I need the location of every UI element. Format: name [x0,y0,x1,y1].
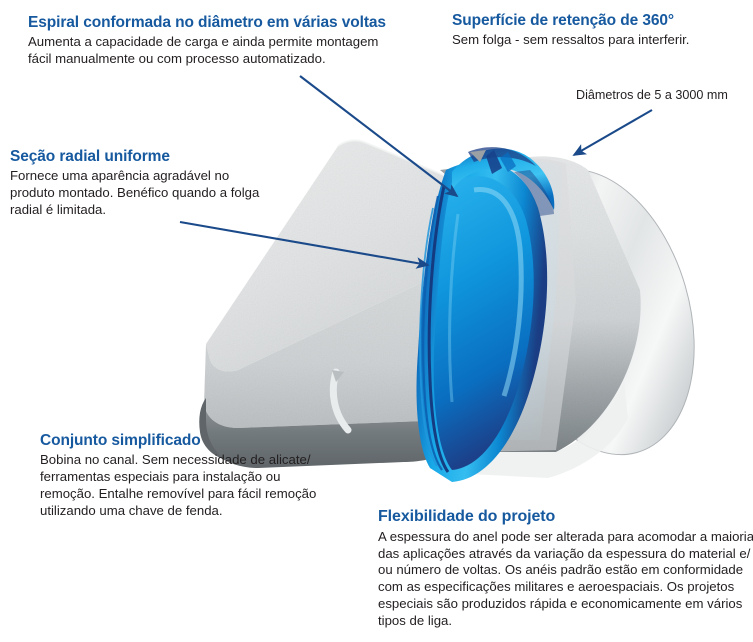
callout-spiral-line-1: Aumenta a capacidade de carga e ainda pe… [28,34,386,51]
spiral-retaining-ring [417,147,555,482]
callout-retention-title: Superfície de retenção de 360° [452,12,689,30]
callout-uniform-radial-section: Seção radial uniforme Fornece uma aparên… [10,148,259,219]
callout-flex-line-2: das aplicações através da variação da es… [378,546,753,563]
callout-spiral-body: Aumenta a capacidade de carga e ainda pe… [28,34,386,68]
callout-flex-line-1: A espessura do anel pode ser alterada pa… [378,529,753,546]
callout-retention-surface: Superfície de retenção de 360° Sem folga… [452,12,689,49]
callout-section-line-3: radial é limitada. [10,202,259,219]
shaft-cylinder [468,146,726,478]
callout-flex-body: A espessura do anel pode ser alterada pa… [378,529,753,630]
arrow-to-ring-crest [574,110,652,155]
arrow-to-ring-face [180,222,428,265]
callout-flex-line-3: ou número de voltas. Os anéis padrão est… [378,562,753,579]
callout-flex-title: Flexibilidade do projeto [378,508,753,527]
callout-flex-line-4: com as especificações militares e aeroes… [378,579,753,596]
callout-assembly-body: Bobina no canal. Sem necessidade de alic… [40,452,316,519]
callout-assembly-title: Conjunto simplificado [40,432,316,450]
callout-section-line-1: Fornece uma aparência agradável no [10,168,259,185]
callout-design-flexibility: Flexibilidade do projeto A espessura do … [378,508,753,629]
label-diameter-range: Diâmetros de 5 a 3000 mm [576,88,728,103]
callout-flex-line-6: tipos de liga. [378,613,753,630]
callout-flex-line-5: especiais são produzidos rápida e econom… [378,596,753,613]
illustration-page: Espiral conformada no diâmetro em várias… [0,0,753,642]
callout-section-body: Fornece uma aparência agradável no produ… [10,168,259,218]
callout-section-title: Seção radial uniforme [10,148,259,166]
ring-groove [446,165,544,478]
callout-assembly-line-1: Bobina no canal. Sem necessidade de alic… [40,452,316,469]
callout-retention-line-1: Sem folga - sem ressaltos para interferi… [452,32,689,49]
callout-retention-body: Sem folga - sem ressaltos para interferi… [452,32,689,49]
removal-notch [333,372,348,430]
arrow-to-ring-top [300,76,457,196]
groove-edge-tick [470,150,486,162]
callout-assembly-line-3: remoção. Entalhe removível para fácil re… [40,486,316,503]
callout-spiral-line-2: fácil manualmente ou com processo automa… [28,51,386,68]
callout-spiral-title: Espiral conformada no diâmetro em várias… [28,14,386,32]
callout-assembly-line-2: ferramentas especiais para instalação ou [40,469,316,486]
callout-simplified-assembly: Conjunto simplificado Bobina no canal. S… [40,432,316,519]
callout-spiral-conformed: Espiral conformada no diâmetro em várias… [28,14,386,68]
callout-section-line-2: produto montado. Benéfico quando a folga [10,185,259,202]
callout-assembly-line-4: utilizando uma chave de fenda. [40,503,316,520]
